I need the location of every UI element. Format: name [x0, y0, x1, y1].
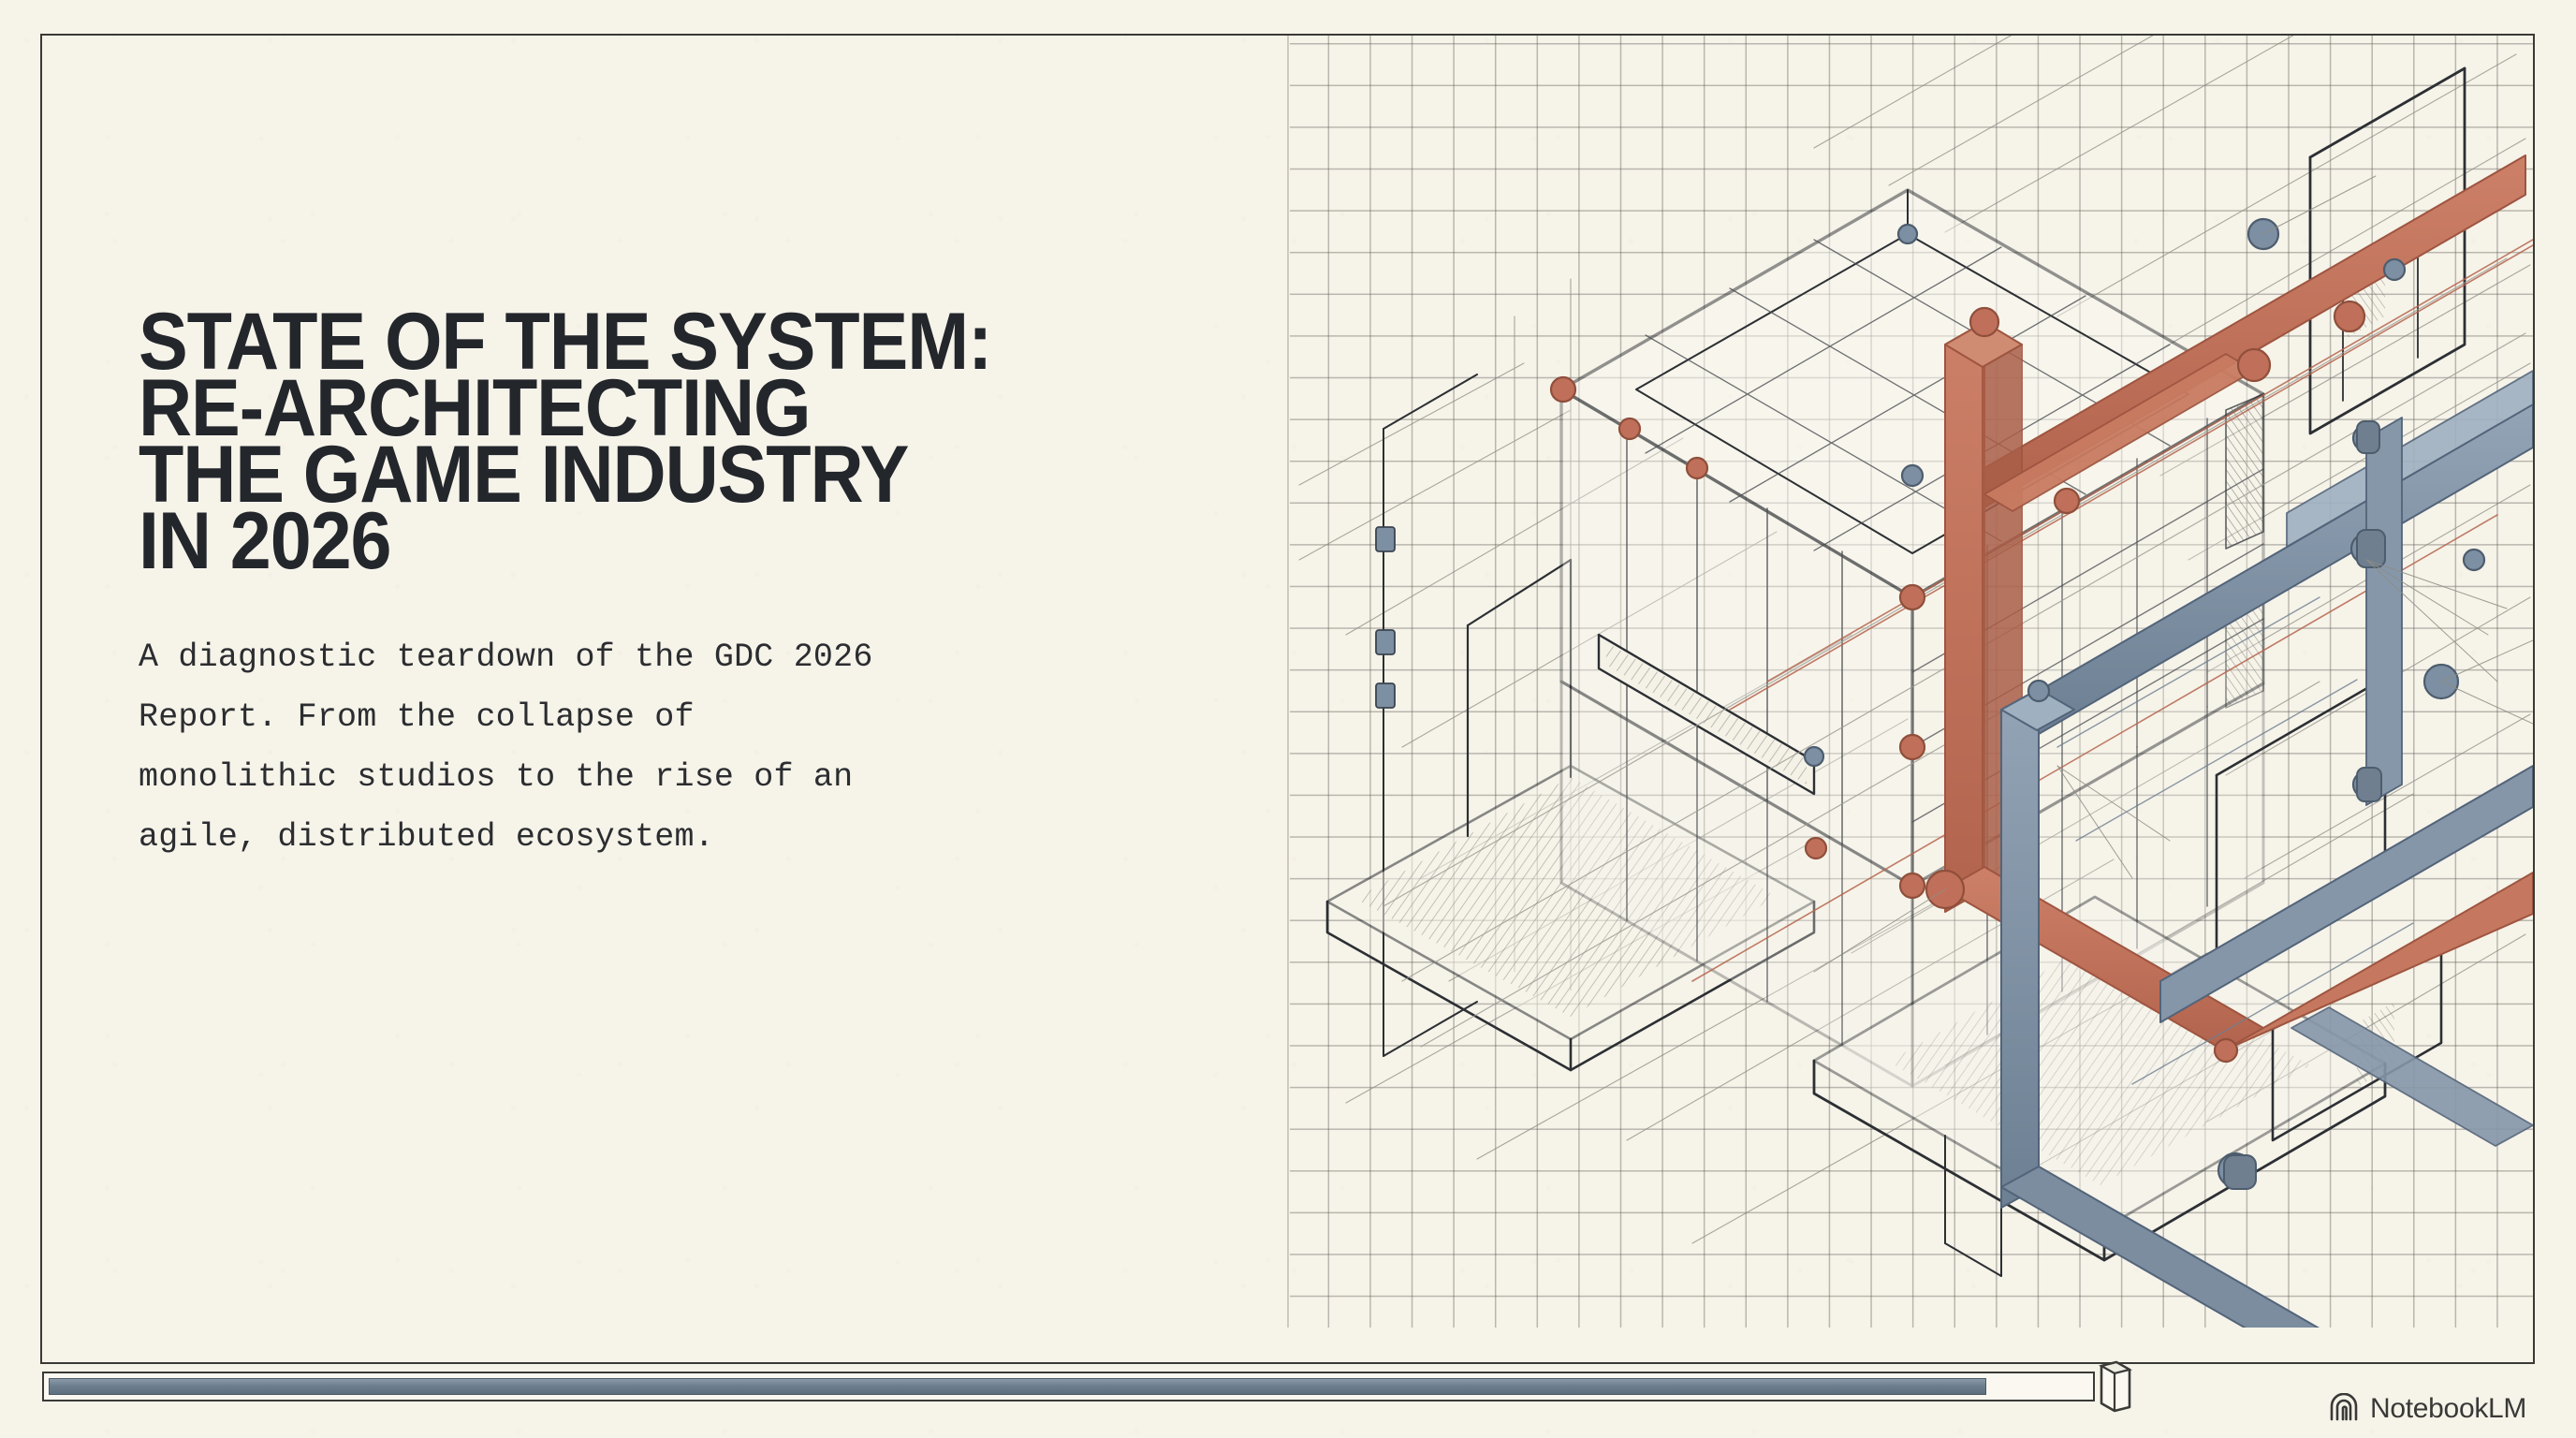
- progress-track[interactable]: [42, 1372, 2095, 1401]
- page-subtitle: A diagnostic teardown of the GDC 2026 Re…: [139, 627, 1215, 867]
- slide-progress-bar[interactable]: [42, 1366, 2533, 1407]
- presentation-slide: STATE OF THE SYSTEM: RE-ARCHITECTING THE…: [0, 0, 2576, 1438]
- title-block: STATE OF THE SYSTEM: RE-ARCHITECTING THE…: [139, 309, 1215, 867]
- page-title: STATE OF THE SYSTEM: RE-ARCHITECTING THE…: [139, 309, 1129, 575]
- notebooklm-label: NotebookLM: [2370, 1393, 2526, 1425]
- notebooklm-spiral-icon: [2328, 1393, 2360, 1425]
- progress-handle[interactable]: [2088, 1360, 2139, 1413]
- notebooklm-watermark: NotebookLM: [2328, 1393, 2526, 1425]
- progress-fill: [49, 1378, 1986, 1395]
- column-divider: [1287, 36, 1289, 1328]
- illustration-panel: [1290, 36, 2533, 1328]
- isometric-blueprint-drawing: [1290, 36, 2533, 1328]
